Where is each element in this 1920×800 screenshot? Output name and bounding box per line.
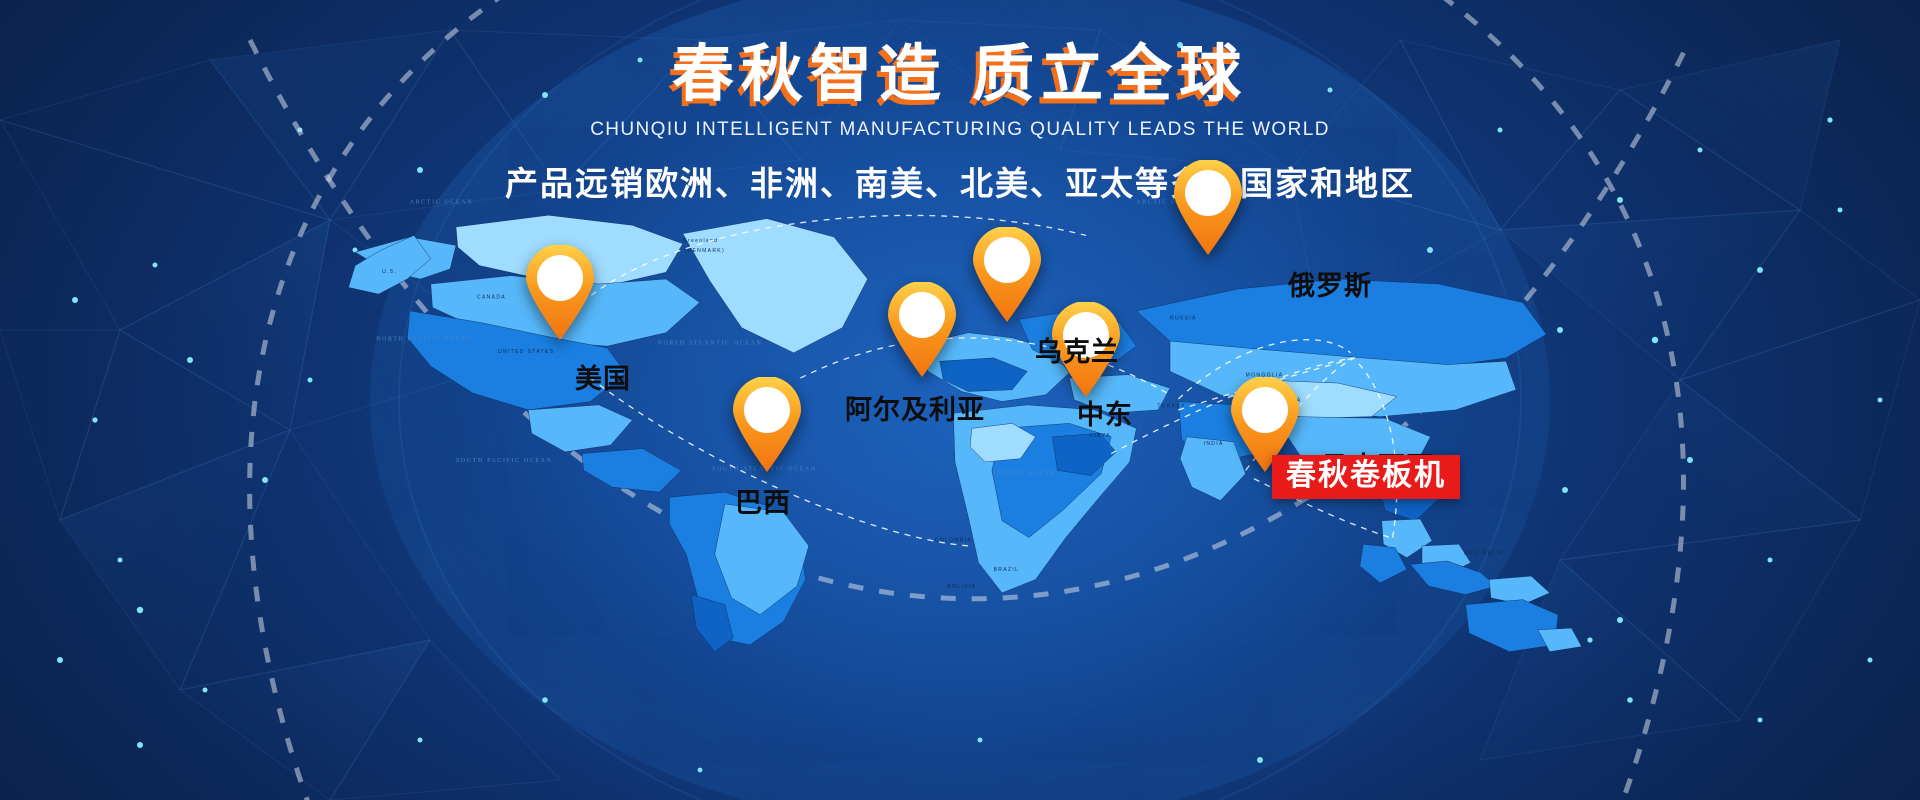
promo-banner: 春秋智造 质立全球 CHUNQIU INTELLIGENT MANUFACTUR… [0,0,1920,800]
page-title: 春秋智造 质立全球 [672,42,1248,107]
map-pin-russia[interactable] [1171,160,1245,256]
map-ocean-label: NORTH PACIFIC OCEAN [376,336,473,342]
map-country-label: (DENMARK) [684,248,725,254]
page-subtitle-english: CHUNQIU INTELLIGENT MANUFACTURING QUALIT… [0,119,1920,141]
map-ocean-label: NORTH ATLANTIC OCEAN [658,340,763,346]
map-country-label: INDIA [1204,441,1224,447]
headline-block: 春秋智造 质立全球 CHUNQIU INTELLIGENT MANUFACTUR… [0,42,1920,205]
map-country-label: BOLIVIA [947,584,976,590]
map-pin-usa[interactable] [523,245,597,341]
map-country-label: U.S. [382,269,397,275]
map-pin-ukraine[interactable] [970,227,1044,323]
map-country-label: CANADA [477,294,506,300]
map-ocean-label: INDIAN OCEAN [994,471,1057,477]
map-pin-label-ukraine: 乌克兰 [1035,330,1119,369]
map-pin-label-russia: 俄罗斯 [1288,264,1372,303]
location-pin-icon [970,227,1044,323]
map-country-label: BRAZIL [994,567,1020,573]
map-country-label: UNITED STATES [498,349,554,355]
map-pin-brazil[interactable] [730,377,804,473]
map-country-label: LIBYA [1090,433,1111,439]
location-pin-icon [730,377,804,473]
location-pin-icon [1171,160,1245,256]
brand-badge[interactable]: 春秋卷板机 [1272,455,1460,499]
map-country-label: RUSSIA [1170,315,1197,321]
map-ocean-label: SOUTH PACIFIC OCEAN [456,458,553,464]
map-pin-label-brazil: 巴西 [735,481,791,520]
map-pin-algeria[interactable] [885,282,959,378]
location-pin-icon [523,245,597,341]
map-country-label: AUSTRALIA [1464,550,1504,556]
page-tagline: 产品远销欧洲、非洲、南美、北美、亚太等多个国家和地区 [0,157,1920,205]
location-pin-icon [885,282,959,378]
map-pin-label-algeria: 阿尔及利亚 [845,388,985,427]
map-pin-label-middle-east: 中东 [1077,393,1133,432]
map-pin-label-usa: 美国 [575,357,631,396]
